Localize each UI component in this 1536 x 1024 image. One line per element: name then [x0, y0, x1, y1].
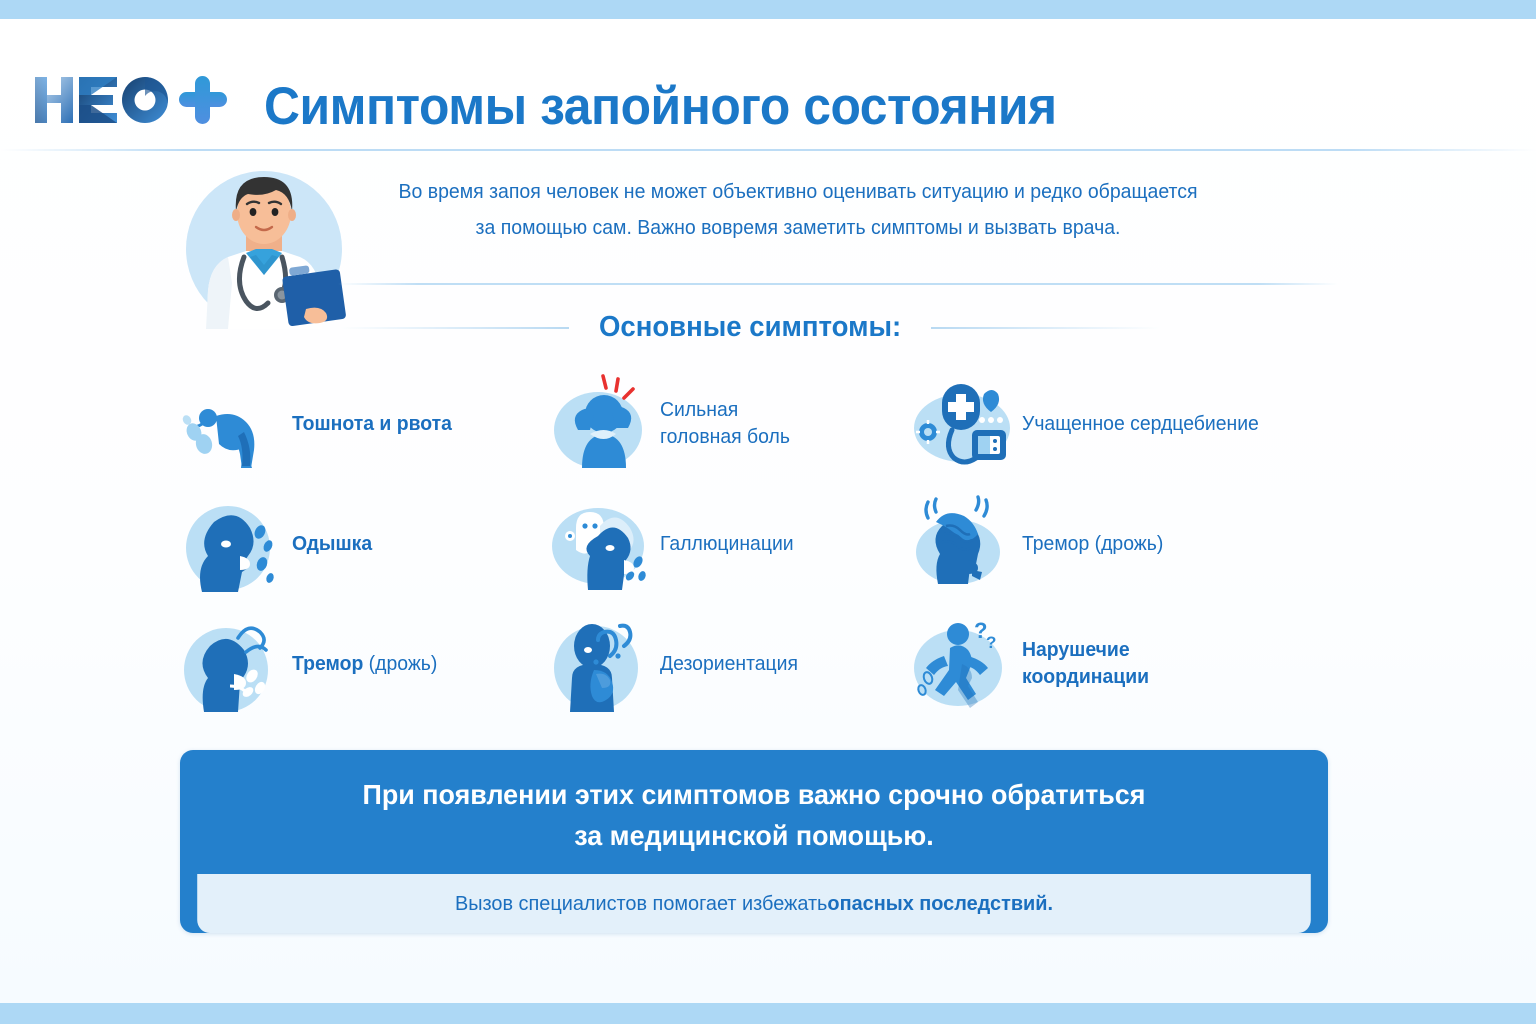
intro-line-2: за помощью сам. Важно вовремя заметить с… — [342, 210, 1254, 246]
headache-icon — [548, 372, 652, 476]
symptom-label: Тремор (дрожь) — [292, 651, 437, 678]
symptom-item: Тошнота и рвота — [180, 364, 548, 484]
infographic-stage: Симптомы запойного состояния — [0, 19, 1536, 1003]
callout-main: При появлении этих симптомов важно срочн… — [203, 750, 1305, 874]
disorientation-icon — [548, 612, 652, 716]
symptom-label: Одышка — [292, 531, 372, 558]
tremor-head-icon — [910, 492, 1014, 596]
blood-pressure-icon — [910, 372, 1014, 476]
shortness-breath-icon — [180, 492, 284, 596]
coordination-icon: ? ? — [910, 612, 1014, 716]
symptom-label: Галлюцинации — [660, 531, 794, 558]
symptom-label: Тошнота и рвота — [292, 411, 452, 438]
callout-footer-prefix: Вызов специалистов помогает избежать — [455, 892, 827, 916]
symptom-label-main: Тремор — [292, 653, 363, 675]
symptom-item: Тремор (дрожь) — [910, 484, 1340, 604]
symptom-item: Учащенное сердцебиение — [910, 364, 1340, 484]
section-rule-left — [340, 327, 569, 329]
page-title: Симптомы запойного состояния — [264, 76, 1057, 137]
symptom-label-line2: головная боль — [660, 424, 790, 451]
intro-divider — [338, 283, 1338, 285]
tremor-sweat-icon — [180, 612, 284, 716]
neo-plus-logo — [33, 73, 241, 127]
symptom-label: Дезориентация — [660, 651, 798, 678]
symptom-label: Нарушечие координации — [1022, 637, 1149, 691]
bottom-accent-band — [0, 1003, 1536, 1024]
top-accent-band — [0, 0, 1536, 19]
section-rule-right — [931, 327, 1160, 329]
callout-line-2: за медицинской помощью. — [574, 815, 933, 856]
symptom-label-line1: Сильная — [660, 397, 790, 424]
svg-text:?: ? — [986, 633, 996, 652]
symptom-label: Сильная головная боль — [660, 397, 790, 451]
symptom-item: Сильная головная боль — [548, 364, 910, 484]
symptom-label-line2: координации — [1022, 664, 1149, 691]
section-heading-text: Основные симптомы: — [599, 311, 901, 344]
header-divider — [0, 149, 1536, 151]
callout-box: При появлении этих симптомов важно срочн… — [180, 750, 1328, 933]
doctor-illustration — [178, 157, 350, 329]
intro-line-1: Во время запоя человек не может объектив… — [342, 174, 1254, 210]
hallucination-icon — [548, 492, 652, 596]
callout-line-1: При появлении этих симптомов важно срочн… — [363, 774, 1146, 815]
intro-text: Во время запоя человек не может объектив… — [342, 174, 1254, 246]
vomiting-icon — [180, 372, 284, 476]
symptom-label: Тремор (дрожь) — [1022, 531, 1163, 558]
symptom-item: ? ? Нарушечие координации — [910, 604, 1340, 724]
symptom-item: Одышка — [180, 484, 548, 604]
callout-footer-bold: опасных последствий. — [827, 892, 1053, 916]
symptom-item: Тремор (дрожь) — [180, 604, 548, 724]
symptom-label-line1: Нарушечие — [1022, 637, 1149, 664]
symptom-item: Дезориентация — [548, 604, 910, 724]
callout-footer: Вызов специалистов помогает избежать опа… — [197, 874, 1311, 933]
header: Симптомы запойного состояния — [0, 38, 1536, 150]
symptom-grid: Тошнота и рвота Сильная головная боль — [180, 364, 1340, 724]
section-heading: Основные симптомы: — [340, 311, 1160, 344]
symptom-item: Галлюцинации — [548, 484, 910, 604]
symptom-label-suffix: (дрожь) — [363, 653, 437, 675]
symptom-label: Учащенное сердцебиение — [1022, 411, 1259, 438]
